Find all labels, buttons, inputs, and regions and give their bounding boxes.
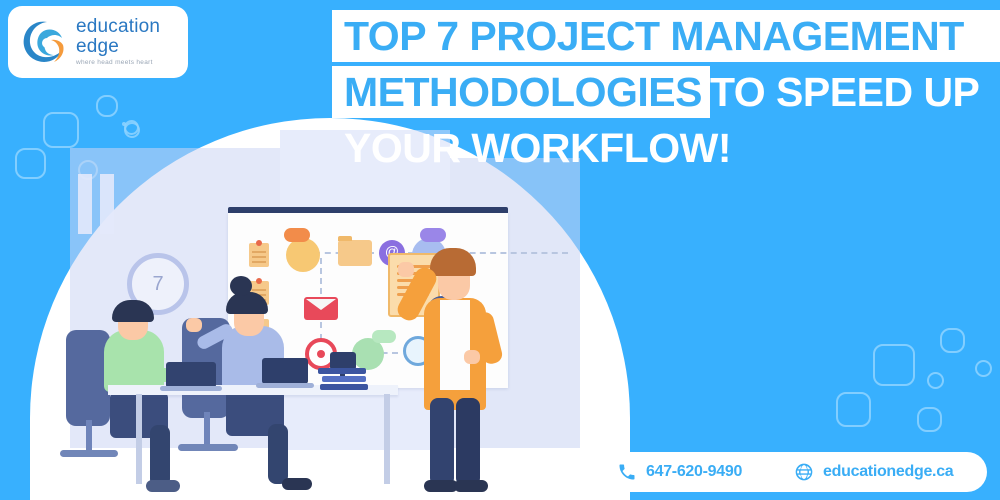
chat-bubble-icon <box>284 228 310 242</box>
avatar-chat-orange <box>286 238 320 272</box>
chair-base <box>178 444 238 451</box>
laptop-base <box>160 386 222 391</box>
decor-square <box>975 360 992 377</box>
logo-name-line2: edge <box>76 37 160 56</box>
flow-connector <box>320 258 322 294</box>
headline: TOP 7 PROJECT MANAGEMENT METHODOLOGIES T… <box>332 10 1000 174</box>
wall-window <box>78 174 92 234</box>
headline-line-3: YOUR WORKFLOW! <box>332 122 1000 174</box>
book-stack <box>322 376 366 382</box>
decor-square <box>940 328 965 353</box>
headline-line2-highlight: METHODOLOGIES <box>332 72 702 113</box>
sticky-note <box>249 243 269 267</box>
headline-line1-text: TOP 7 PROJECT MANAGEMENT <box>332 16 964 57</box>
phone-contact[interactable]: 647-620-9490 <box>617 462 742 482</box>
decor-square <box>873 344 915 386</box>
phone-icon <box>617 462 637 482</box>
chat-bubble-icon <box>420 228 446 242</box>
chair-post <box>204 412 210 446</box>
website-contact[interactable]: educationedge.ca <box>794 462 953 482</box>
desk-leg <box>136 394 142 484</box>
desk-leg <box>384 394 390 484</box>
promo-banner: 7 @ <box>0 0 1000 500</box>
book-stack <box>318 368 366 374</box>
laptop <box>166 362 216 388</box>
chat-bubble-icon <box>372 330 396 343</box>
decor-square <box>96 95 118 117</box>
website-url: educationedge.ca <box>823 463 953 481</box>
clock-label: 7 <box>132 273 184 296</box>
mail-icon <box>304 297 338 320</box>
headline-line-1: TOP 7 PROJECT MANAGEMENT <box>332 10 1000 62</box>
book-stack <box>320 384 368 390</box>
decor-square <box>927 372 944 389</box>
phone-number: 647-620-9490 <box>646 463 742 481</box>
globe-icon <box>794 462 814 482</box>
laptop <box>262 358 308 384</box>
logo-tagline: where head meets heart <box>76 60 160 67</box>
chair-post <box>86 420 92 452</box>
swirl-e-logo-icon <box>16 14 72 70</box>
headline-line3-text: YOUR WORKFLOW! <box>332 128 731 169</box>
chair-base <box>60 450 118 457</box>
logo-name-line1: education <box>76 17 160 36</box>
laptop-base <box>256 383 314 388</box>
headline-line-2: METHODOLOGIES TO SPEED UP <box>332 66 1000 118</box>
logo[interactable]: education edge where head meets heart <box>8 6 188 78</box>
wall-window <box>100 174 114 234</box>
folder-icon <box>338 240 372 266</box>
headline-line2-text: TO SPEED UP <box>702 72 979 113</box>
decor-square <box>917 407 942 432</box>
contact-bar: 647-620-9490 educationedge.ca <box>595 452 987 492</box>
decor-square <box>836 392 871 427</box>
